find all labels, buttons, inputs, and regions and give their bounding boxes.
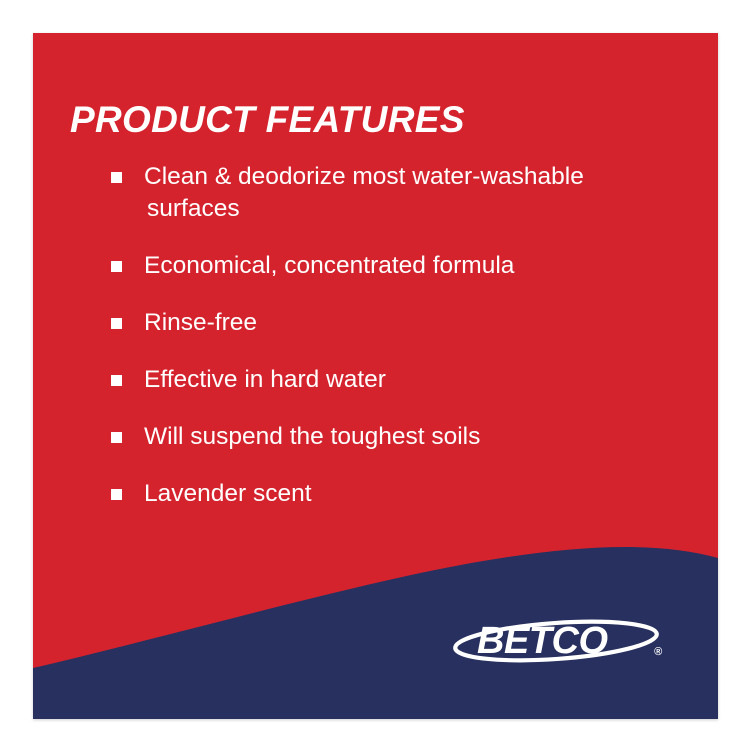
list-item: Clean & deodorize most water-washable su… <box>111 161 671 225</box>
square-bullet-icon <box>111 375 122 386</box>
square-bullet-icon <box>111 432 122 443</box>
feature-line-1: Lavender scent <box>144 478 671 510</box>
feature-list: Clean & deodorize most water-washable su… <box>111 161 671 510</box>
product-features-card: PRODUCT FEATURES Clean & deodorize most … <box>33 33 718 719</box>
list-item: Will suspend the toughest soils <box>111 421 671 453</box>
square-bullet-icon <box>111 318 122 329</box>
screenshot-canvas: PRODUCT FEATURES Clean & deodorize most … <box>0 0 750 750</box>
feature-line-1: Clean & deodorize most water-washable <box>144 161 671 193</box>
square-bullet-icon <box>111 489 122 500</box>
feature-line-2: surfaces <box>144 193 671 225</box>
list-item: Lavender scent <box>111 478 671 510</box>
square-bullet-icon <box>111 172 122 183</box>
betco-logo-graphic: BETCO ® <box>451 615 671 667</box>
feature-line-1: Effective in hard water <box>144 364 671 396</box>
square-bullet-icon <box>111 261 122 272</box>
list-item: Effective in hard water <box>111 364 671 396</box>
feature-line-1: Will suspend the toughest soils <box>144 421 671 453</box>
list-item: Economical, concentrated formula <box>111 250 671 282</box>
betco-logo: BETCO ® <box>451 615 671 667</box>
page-title: PRODUCT FEATURES <box>70 100 465 140</box>
logo-wordmark: BETCO <box>477 620 608 662</box>
list-item: Rinse-free <box>111 307 671 339</box>
registered-trademark-icon: ® <box>654 646 663 658</box>
feature-line-1: Economical, concentrated formula <box>144 250 671 282</box>
feature-line-1: Rinse-free <box>144 307 671 339</box>
